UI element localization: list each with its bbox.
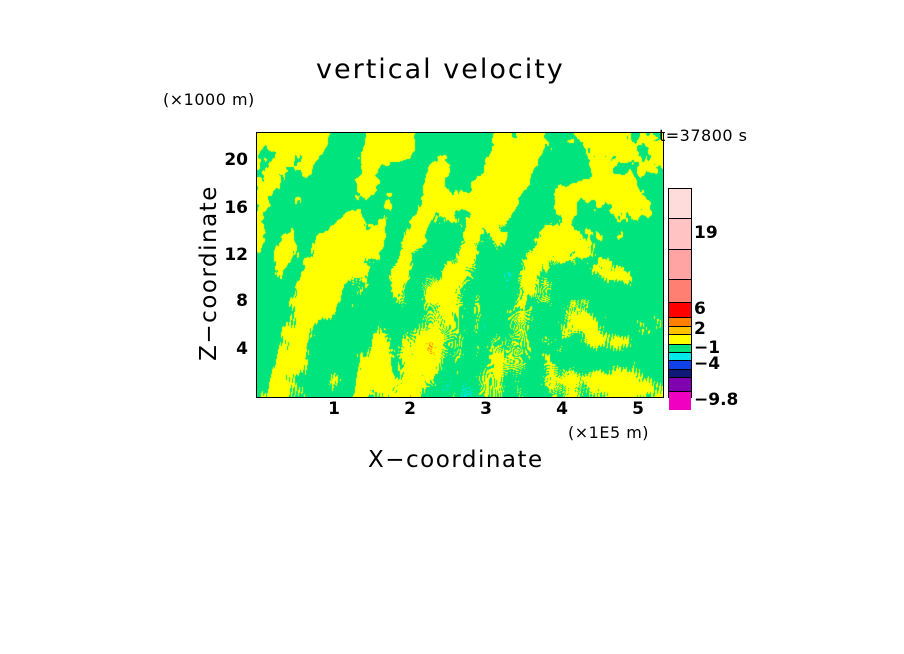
x-tick-label-3: 3 xyxy=(474,399,498,419)
colorbar-band-3 xyxy=(669,280,691,302)
colorbar-label-2: 2 xyxy=(694,319,706,339)
x-tick-label-1: 1 xyxy=(322,399,346,419)
colorbar-band-12 xyxy=(669,378,691,391)
colorbar-band-7 xyxy=(669,335,691,344)
colorbar-label-0: 19 xyxy=(694,223,718,243)
colorbar-band-0 xyxy=(669,189,691,218)
z-axis-units-label: (×1000 m) xyxy=(163,90,255,109)
colorbar-band-13 xyxy=(669,392,691,410)
x-axis-units-label: (×1E5 m) xyxy=(568,423,649,442)
contour-field-panel xyxy=(256,132,664,398)
z-tick-label-8: 8 xyxy=(218,291,248,311)
z-tick-label-20: 20 xyxy=(218,150,248,170)
colorbar xyxy=(668,188,692,398)
x-tick-label-2: 2 xyxy=(398,399,422,419)
page-title: vertical velocity xyxy=(316,54,565,85)
colorbar-band-5 xyxy=(669,318,691,325)
colorbar-band-11 xyxy=(669,370,691,377)
colorbar-band-8 xyxy=(669,345,691,352)
time-annotation: t=37800 s xyxy=(659,126,748,145)
colorbar-band-2 xyxy=(669,250,691,279)
x-tick-label-4: 4 xyxy=(550,399,574,419)
contour-plot-figure: vertical velocity (×1000 m) Z−coordinate… xyxy=(0,0,904,654)
colorbar-band-9 xyxy=(669,353,691,360)
z-tick-label-4: 4 xyxy=(218,339,248,359)
z-tick-label-12: 12 xyxy=(218,245,248,265)
colorbar-label-1: 6 xyxy=(694,299,706,319)
contour-field-canvas xyxy=(257,133,663,397)
colorbar-band-1 xyxy=(669,219,691,248)
colorbar-band-6 xyxy=(669,327,691,334)
z-tick-label-16: 16 xyxy=(218,198,248,218)
colorbar-band-4 xyxy=(669,303,691,318)
colorbar-band-10 xyxy=(669,361,691,368)
x-tick-label-5: 5 xyxy=(626,399,650,419)
colorbar-label-5: −9.8 xyxy=(694,390,738,410)
x-axis-title: X−coordinate xyxy=(368,447,544,473)
colorbar-label-4: −4 xyxy=(694,354,720,374)
